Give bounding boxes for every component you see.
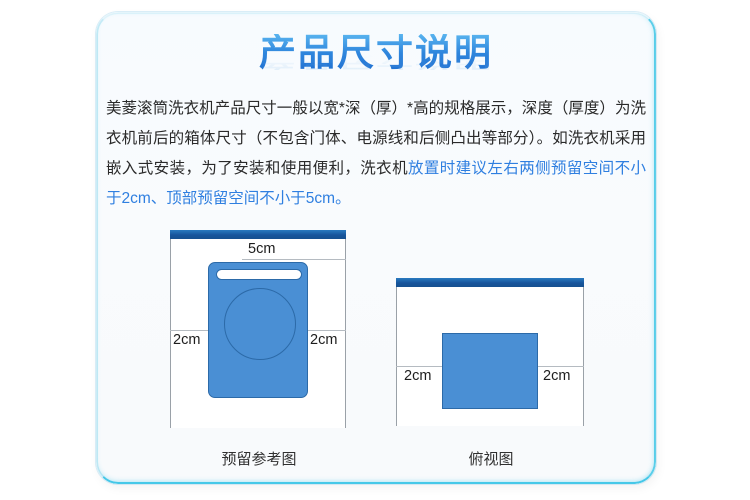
product-dimension-card: 产品尺寸说明 产品尺寸说明 美菱滚筒洗衣机产品尺寸一般以宽*深（厚）*高的规格展… [96,12,656,484]
label-right-clearance: 2cm [310,333,337,348]
top-view-left-gap-rule [396,366,443,367]
figure-front-view: 5cm 2cm 2cm [170,230,348,480]
washing-machine-front [208,262,308,398]
front-view-top-gap-rule [242,259,346,260]
caption-top-view: 俯视图 [396,448,586,469]
top-view-right-gap-rule [537,366,584,367]
description-paragraph: 美菱滚筒洗衣机产品尺寸一般以宽*深（厚）*高的规格展示，深度（厚度）为洗衣机前后… [106,94,646,214]
top-view-left-wall [396,287,397,426]
front-view-lintel-bar [170,230,346,239]
control-panel [216,269,302,280]
top-view-right-wall [583,287,584,426]
page-root: 产品尺寸说明 产品尺寸说明 美菱滚筒洗衣机产品尺寸一般以宽*深（厚）*高的规格展… [0,0,750,500]
washing-machine-top [442,333,538,409]
page-title: 产品尺寸说明 [259,34,493,73]
front-view-left-wall [170,239,171,428]
top-view-lintel-bar [396,278,584,287]
label-top-clearance: 5cm [248,242,275,257]
drum-door-icon [224,288,296,360]
label-left-clearance: 2cm [173,333,200,348]
front-view-right-wall [345,239,346,428]
diagram-area: 5cm 2cm 2cm 2cm 2cm 预留参 [96,230,656,480]
label-right-clearance: 2cm [543,369,570,384]
caption-front-view: 预留参考图 [170,448,348,469]
front-view-right-gap-rule [307,330,346,331]
label-left-clearance: 2cm [404,369,431,384]
front-view-left-gap-rule [170,330,210,331]
